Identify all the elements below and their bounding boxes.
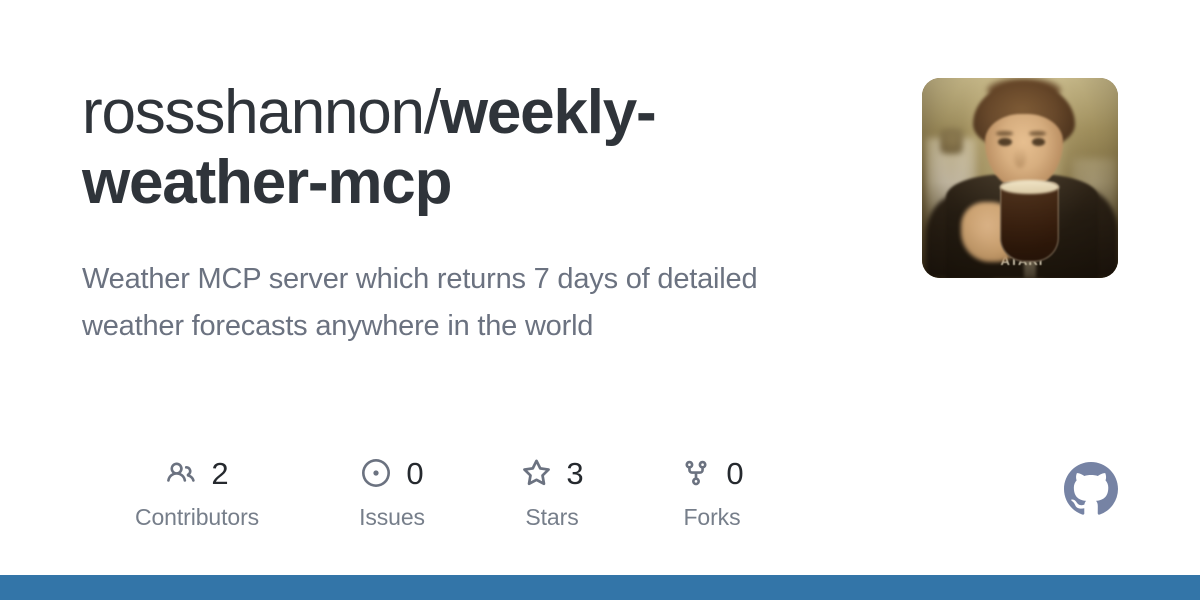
stat-stars-value: 3 [566, 458, 583, 489]
stat-issues-top: 0 [360, 452, 423, 494]
title-block: rossshannon/weekly-weather-mcp Weather M… [82, 78, 822, 350]
stat-stars[interactable]: 3 Stars [472, 452, 632, 531]
owner-avatar[interactable]: ATARI [922, 78, 1118, 278]
card-header: rossshannon/weekly-weather-mcp Weather M… [82, 78, 1118, 350]
stat-issues-label: Issues [359, 504, 425, 531]
bottom-accent-bar [0, 575, 1200, 600]
stat-forks[interactable]: 0 Forks [632, 452, 792, 531]
stat-forks-top: 0 [680, 452, 743, 494]
stat-issues-value: 0 [406, 458, 423, 489]
stat-contributors-top: 2 [165, 452, 228, 494]
issue-opened-icon [360, 457, 392, 489]
stat-contributors-label: Contributors [135, 504, 259, 531]
stat-forks-value: 0 [726, 458, 743, 489]
stat-forks-label: Forks [683, 504, 740, 531]
stat-stars-label: Stars [525, 504, 578, 531]
repo-forked-icon [680, 457, 712, 489]
people-icon [165, 457, 197, 489]
stat-contributors-value: 2 [211, 458, 228, 489]
stat-contributors[interactable]: 2 Contributors [82, 452, 312, 531]
github-mark-icon [1064, 462, 1118, 516]
star-icon [520, 457, 552, 489]
stat-stars-top: 3 [520, 452, 583, 494]
repository-description: Weather MCP server which returns 7 days … [82, 256, 812, 350]
repository-stats: 2 Contributors 0 Issues [82, 452, 792, 531]
repository-owner[interactable]: rossshannon [82, 78, 424, 147]
repository-title: rossshannon/weekly-weather-mcp [82, 78, 822, 218]
avatar-color-wash [922, 78, 1118, 278]
stat-issues[interactable]: 0 Issues [312, 452, 472, 531]
repository-title-separator: / [424, 78, 440, 147]
repository-social-preview-card: rossshannon/weekly-weather-mcp Weather M… [0, 0, 1200, 600]
